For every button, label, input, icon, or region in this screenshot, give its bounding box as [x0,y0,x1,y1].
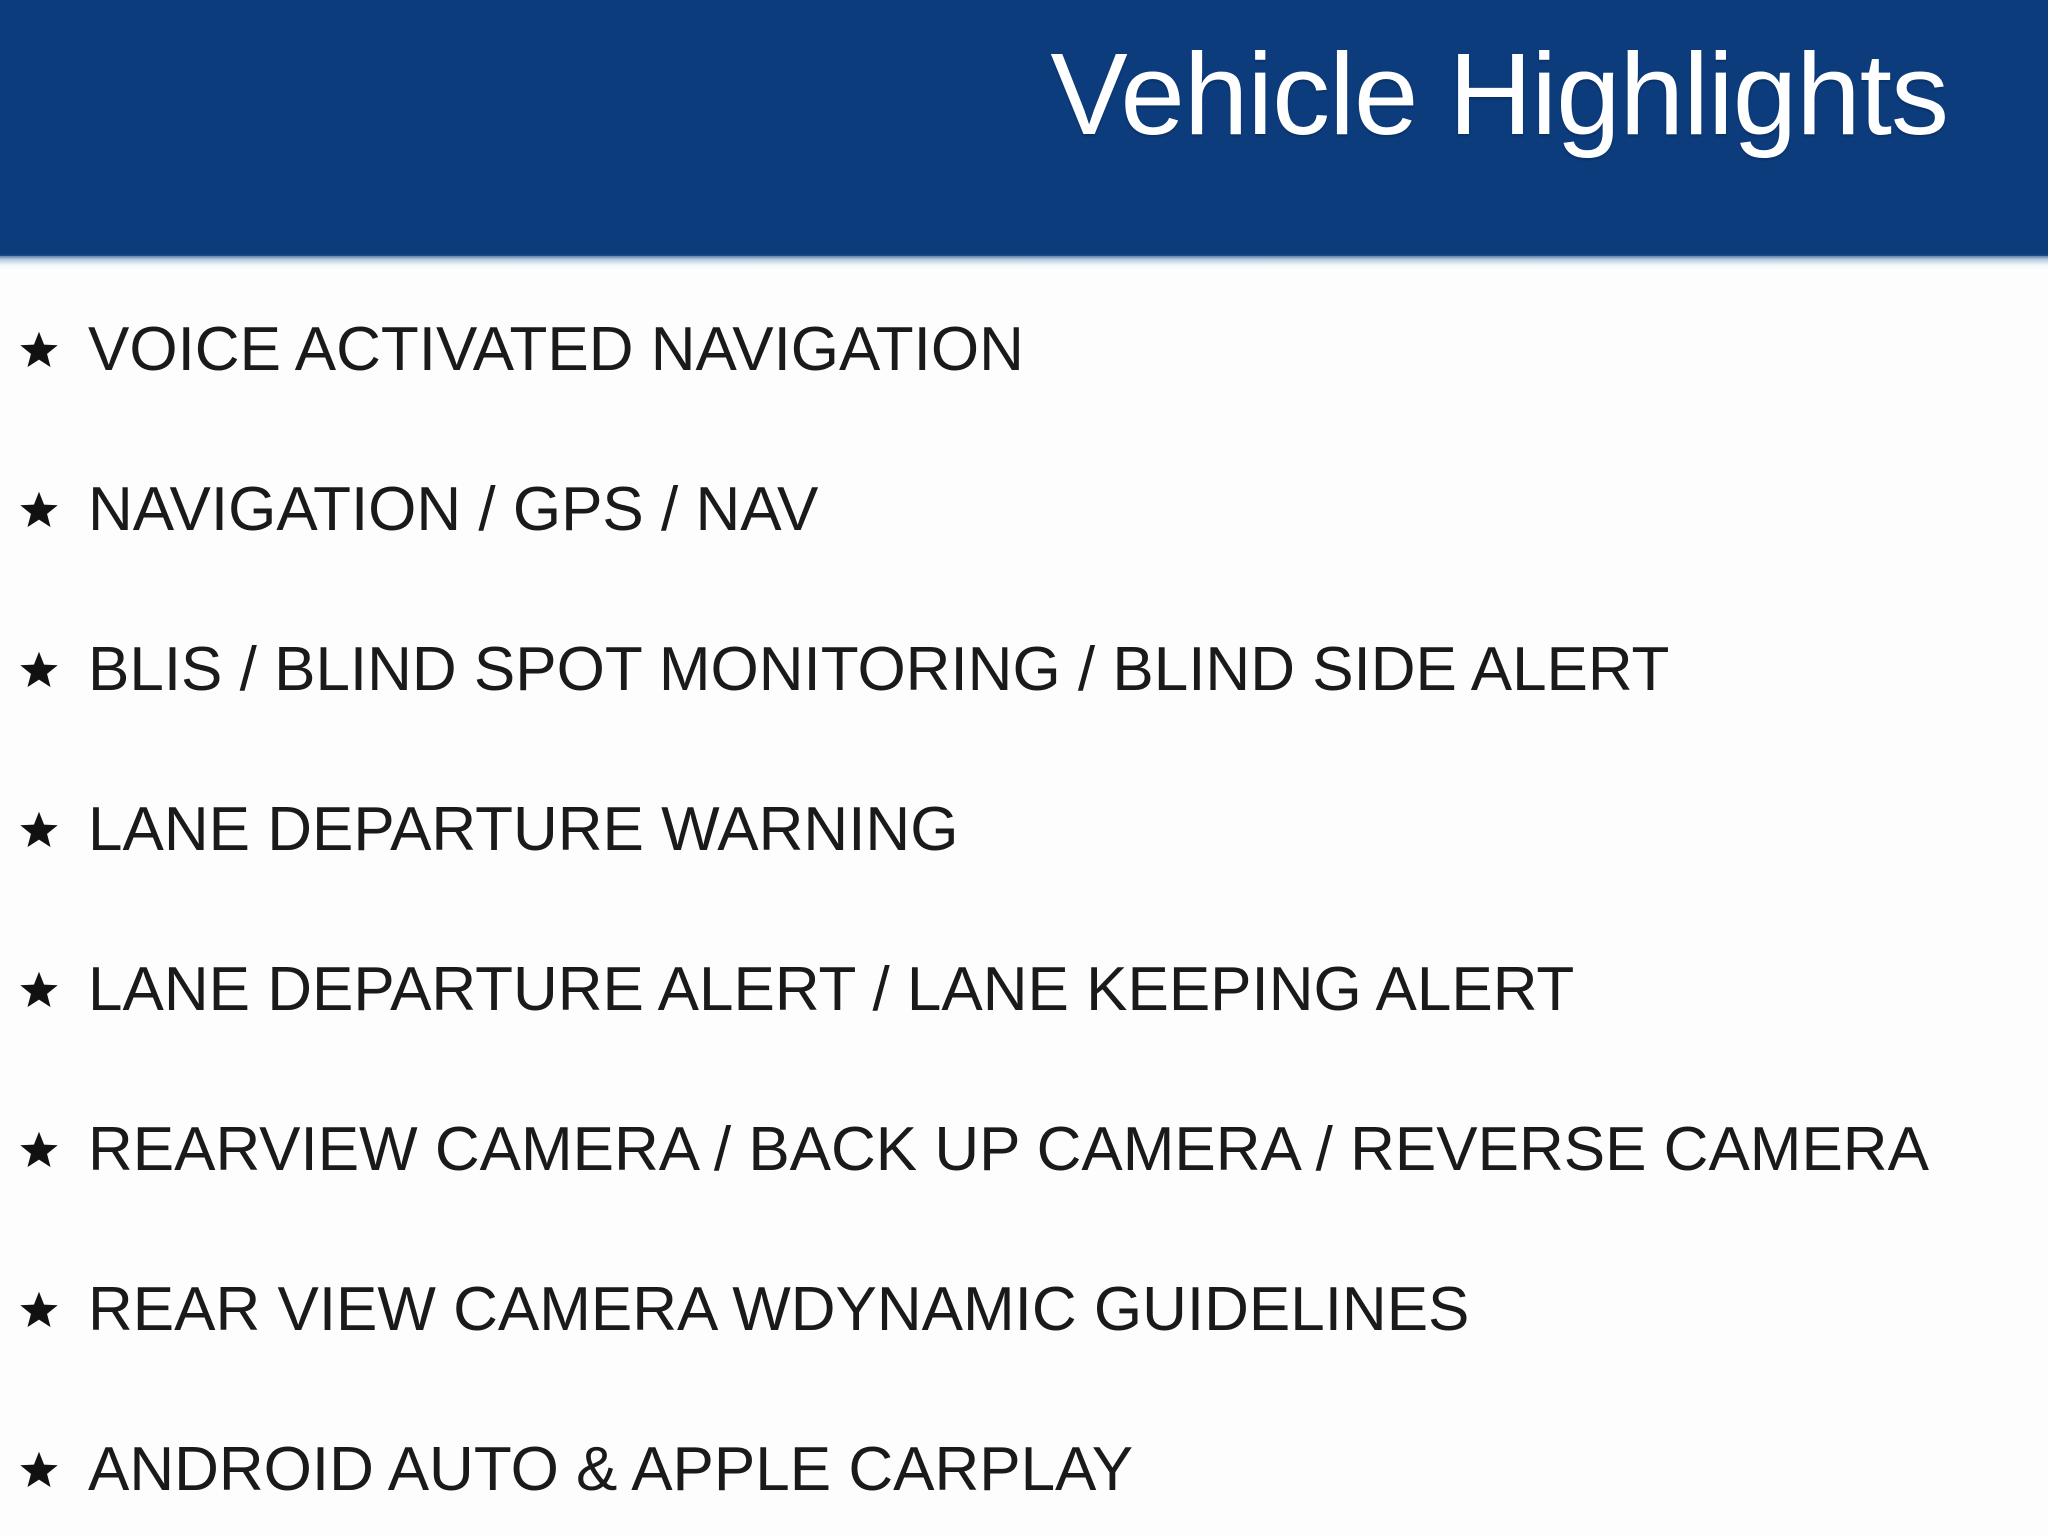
vehicle-highlights-page: Vehicle Highlights VOICE ACTIVATED NAVIG… [0,0,2048,1536]
list-item: VOICE ACTIVATED NAVIGATION [18,308,2048,392]
list-item-label: VOICE ACTIVATED NAVIGATION [88,319,2048,381]
list-item: BLIS / BLIND SPOT MONITORING / BLIND SID… [18,628,2048,712]
list-item: REAR VIEW CAMERA WDYNAMIC GUIDELINES [18,1268,2048,1352]
header-band: Vehicle Highlights [0,0,2048,256]
star-icon [18,969,60,1011]
list-item-label: NAVIGATION / GPS / NAV [88,479,2048,541]
star-icon [18,1129,60,1171]
list-item-label: LANE DEPARTURE WARNING [88,799,2048,861]
list-item: REARVIEW CAMERA / BACK UP CAMERA / REVER… [18,1108,2048,1192]
list-item-label: BLIS / BLIND SPOT MONITORING / BLIND SID… [88,639,2048,701]
list-item-label: REAR VIEW CAMERA WDYNAMIC GUIDELINES [88,1279,2048,1341]
list-item-label: ANDROID AUTO & APPLE CARPLAY [88,1439,2048,1501]
list-item-label: LANE DEPARTURE ALERT / LANE KEEPING ALER… [88,959,2048,1021]
star-icon [18,1449,60,1491]
list-item: LANE DEPARTURE WARNING [18,788,2048,872]
list-item: NAVIGATION / GPS / NAV [18,468,2048,552]
star-icon [18,809,60,851]
star-icon [18,329,60,371]
star-icon [18,649,60,691]
vehicle-highlights-list: VOICE ACTIVATED NAVIGATION NAVIGATION / … [0,256,2048,1536]
star-icon [18,489,60,531]
list-item: ANDROID AUTO & APPLE CARPLAY [18,1428,2048,1512]
star-icon [18,1289,60,1331]
page-title: Vehicle Highlights [1050,28,1948,161]
list-item: LANE DEPARTURE ALERT / LANE KEEPING ALER… [18,948,2048,1032]
list-item-label: REARVIEW CAMERA / BACK UP CAMERA / REVER… [88,1119,2048,1181]
